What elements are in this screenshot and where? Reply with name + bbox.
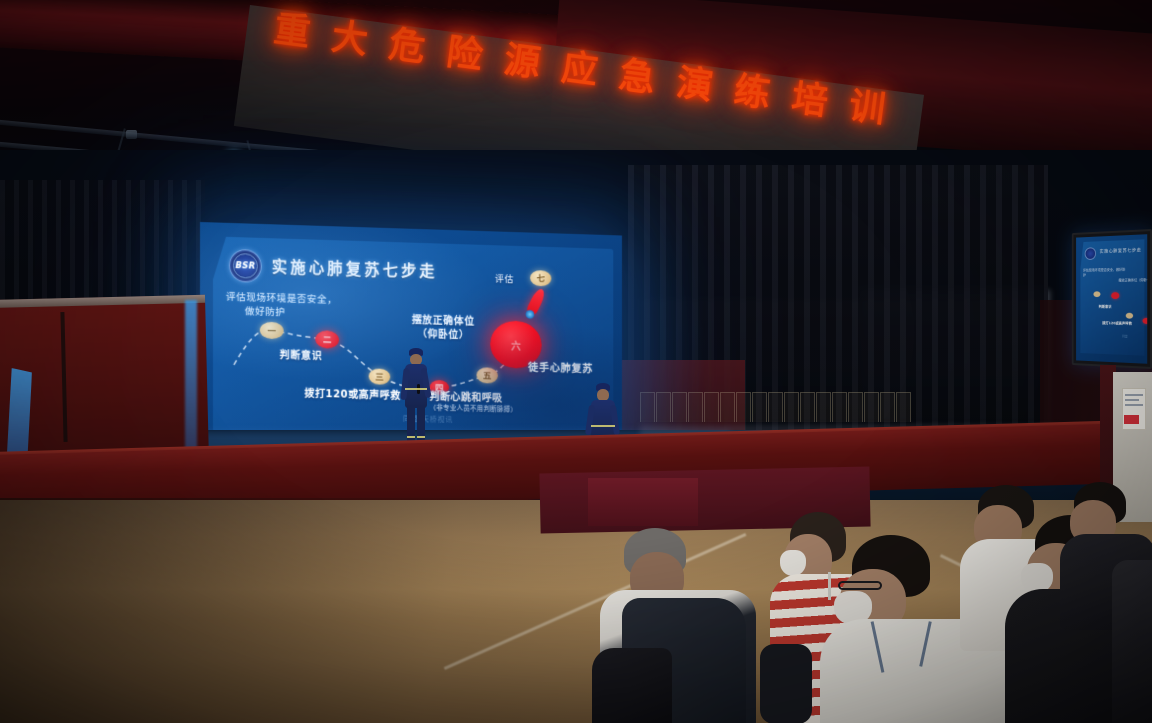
poster-red-block (1124, 415, 1139, 424)
eyeglasses (838, 581, 882, 590)
stacked-folding-chairs (640, 382, 915, 422)
poster-text-line (1125, 404, 1143, 406)
uniform-reflective-stripe (417, 436, 425, 438)
side-monitor-node-2 (1111, 292, 1119, 299)
led-char: 重 (272, 10, 313, 54)
step-node-7: 七 (530, 270, 551, 286)
lower-red-wall-panel (588, 478, 698, 526)
floor-shadow-left (0, 498, 620, 723)
side-monitor-node-3 (1126, 313, 1133, 319)
step5-label: 摆放正确体位 （仰卧位） (398, 314, 488, 344)
step-node-5: 五 (476, 367, 497, 383)
face-mask (780, 550, 806, 576)
step6-label: 徒手心肺复苏 (528, 359, 593, 375)
stage-light-fixture (126, 130, 137, 139)
step-node-3: 三 (369, 368, 391, 384)
led-char: 源 (502, 40, 543, 84)
step-node-6-num: 六 (511, 337, 521, 352)
side-monitor-note1: 评估现场环境是否安全，做好防护 (1083, 268, 1128, 279)
step-node-1: 一 (260, 322, 284, 340)
led-char: 急 (617, 56, 658, 100)
led-char: 大 (329, 17, 370, 61)
side-monitor-step3-label: 拨打120或高声呼救 (1102, 321, 1132, 326)
bsr-logo: BSR (229, 249, 262, 283)
led-char: 危 (387, 25, 428, 69)
step-node-1-num: 一 (267, 324, 275, 336)
uniform-reflective-stripe (591, 425, 615, 427)
side-monitor-node-1 (1093, 291, 1100, 297)
side-monitor-step2-label: 判断意识 (1099, 305, 1112, 310)
side-monitor-screen: 实施心肺复苏七步走 评估现场环境是否安全，做好防护 摆放正确体位（仰卧位） 判断… (1076, 234, 1147, 364)
attendee-far-right (1112, 560, 1152, 723)
auditorium-scene: 重 大 危 险 源 应 急 演 练 培 训 (0, 0, 1152, 723)
attendee-torso (1112, 560, 1152, 723)
led-char: 训 (847, 86, 888, 130)
led-char: 演 (674, 63, 715, 107)
led-char: 培 (789, 79, 830, 123)
step7-label: 评估 (495, 272, 514, 285)
step-node-7-num: 七 (537, 272, 545, 284)
step5-label-line1: 摆放正确体位 (412, 315, 475, 328)
attendee-torso (592, 648, 672, 723)
led-char: 险 (444, 33, 485, 77)
led-char: 练 (732, 71, 773, 115)
step-node-5-num: 五 (483, 369, 491, 381)
side-monitor-watermark: 同盟 (1122, 334, 1128, 338)
step5-label-line2: （仰卧位） (417, 329, 469, 341)
uniform-reflective-stripe (407, 436, 415, 438)
step2-label: 判断意识 (280, 346, 323, 362)
poster-text-line (1125, 394, 1143, 396)
step-node-2-num: 二 (323, 333, 331, 345)
bsr-logo-text: BSR (235, 261, 255, 272)
attendee-back-row-left (592, 648, 672, 723)
poster-text-line (1125, 399, 1139, 401)
step-node-2: 二 (315, 330, 339, 349)
step-node-3-num: 三 (375, 371, 383, 383)
step1-note-line1: 评估现场环境是否安全， (226, 292, 337, 306)
step3-label: 拨打120或高声呼救 (304, 385, 400, 402)
uniform-reflective-stripe (405, 388, 427, 390)
wall-mounted-display: 实施心肺复苏七步走 评估现场环境是否安全，做好防护 摆放正确体位（仰卧位） 判断… (1072, 229, 1152, 369)
step1-note: 评估现场环境是否安全， 做好防护 (226, 291, 355, 323)
side-monitor-node-4 (1143, 318, 1148, 324)
led-char: 应 (559, 48, 600, 92)
side-monitor-note2: 摆放正确体位（仰卧位） (1118, 278, 1147, 283)
attendee-bag-strap (760, 644, 812, 723)
step4-sublabel: （非专业人员不用判断脉搏） (430, 402, 517, 414)
